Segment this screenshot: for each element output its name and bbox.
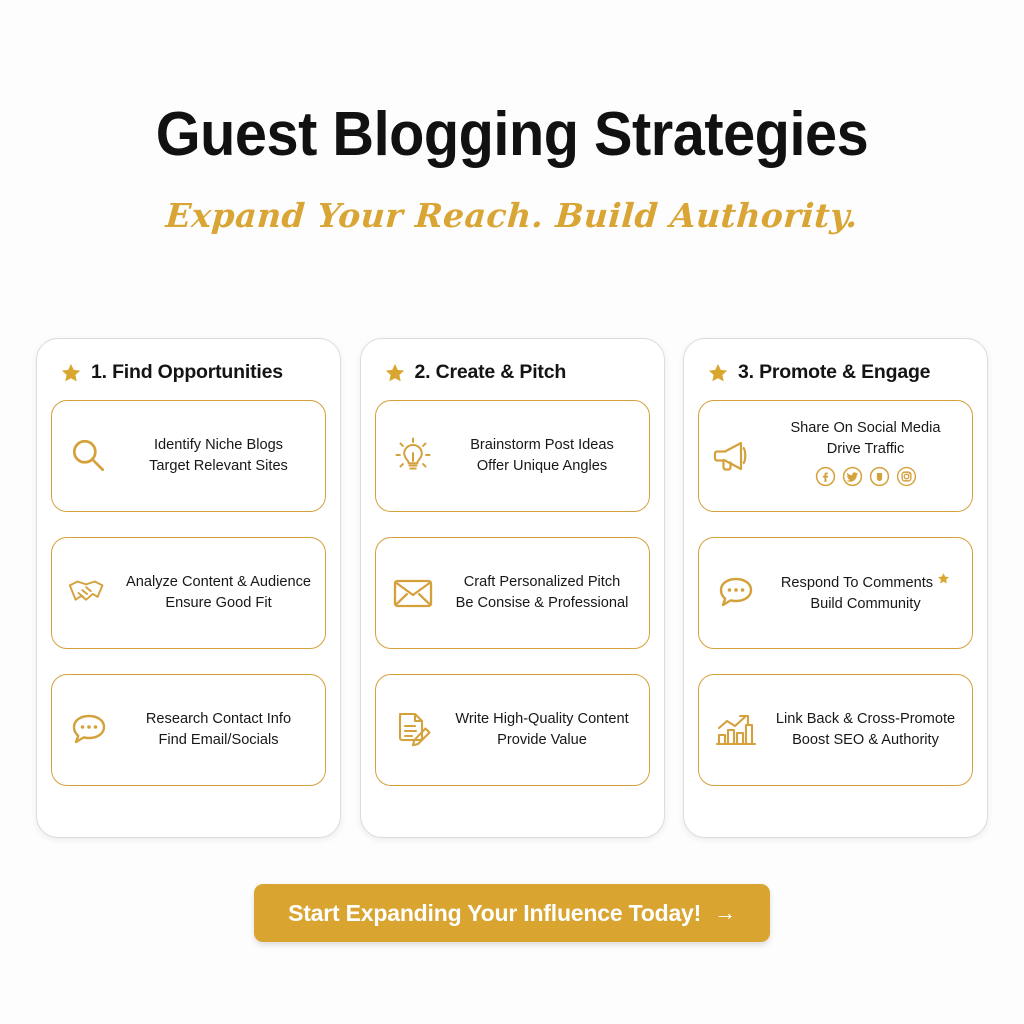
cta-label: Start Expanding Your Influence Today! (288, 900, 701, 927)
cta-section: Start Expanding Your Influence Today! → (0, 884, 1024, 942)
list-item-line2: Provide Value (446, 730, 639, 751)
start-expanding-button[interactable]: Start Expanding Your Influence Today! → (254, 884, 770, 942)
list-item-line2: Offer Unique Angles (446, 456, 639, 477)
megaphone-icon (709, 437, 763, 475)
list-item[interactable]: Write High-Quality Content Provide Value (375, 674, 650, 786)
list-item-line2: Drive Traffic (769, 439, 962, 460)
twitter-icon[interactable] (842, 466, 863, 494)
list-item-line1: Brainstorm Post Ideas (470, 437, 614, 453)
card-header-1: 1. Find Opportunities (51, 361, 326, 384)
speech-bubble-dots-icon (62, 711, 116, 749)
star-icon (384, 362, 406, 384)
list-item-text: Share On Social Media Drive Traffic (769, 418, 962, 493)
list-item-line2: Build Community (769, 594, 962, 615)
tiktok-icon[interactable] (869, 466, 890, 494)
list-item[interactable]: Identify Niche Blogs Target Relevant Sit… (51, 400, 326, 512)
speech-bubble-dots-icon (709, 574, 763, 612)
list-item-text: Link Back & Cross-Promote Boost SEO & Au… (769, 709, 962, 750)
strategy-columns: 1. Find Opportunities Identify Niche Blo… (36, 338, 988, 838)
list-item[interactable]: Link Back & Cross-Promote Boost SEO & Au… (698, 674, 973, 786)
list-item-text: Craft Personalized Pitch Be Consise & Pr… (446, 572, 639, 613)
card-title-3: 3. Promote & Engage (738, 361, 930, 384)
list-item-line2: Be Consise & Professional (446, 593, 639, 614)
lightbulb-icon (386, 434, 440, 478)
list-item-line1: Identify Niche Blogs (154, 437, 283, 453)
list-item-line2: Ensure Good Fit (122, 593, 315, 614)
infographic-page: Guest Blogging Strategies Expand Your Re… (0, 0, 1024, 1024)
document-pencil-icon (386, 708, 440, 752)
list-item[interactable]: Respond To Comments Build Community (698, 537, 973, 649)
list-item-text: Research Contact Info Find Email/Socials (122, 709, 315, 750)
handshake-icon (62, 573, 116, 613)
strategy-card-1: 1. Find Opportunities Identify Niche Blo… (36, 338, 341, 838)
instagram-icon[interactable] (896, 466, 917, 494)
list-item-line2: Find Email/Socials (122, 730, 315, 751)
social-icons-row (769, 466, 962, 494)
list-item[interactable]: Research Contact Info Find Email/Socials (51, 674, 326, 786)
strategy-card-2: 2. Create & Pitch Brainstorm Post Ideas … (360, 338, 665, 838)
strategy-card-3: 3. Promote & Engage Share On Social Medi… (683, 338, 988, 838)
envelope-icon (386, 575, 440, 611)
list-item-line1: Link Back & Cross-Promote (776, 711, 955, 727)
star-icon (707, 362, 729, 384)
card-title-2: 2. Create & Pitch (415, 361, 567, 384)
card-header-3: 3. Promote & Engage (698, 361, 973, 384)
star-icon (60, 362, 82, 384)
list-item[interactable]: Brainstorm Post Ideas Offer Unique Angle… (375, 400, 650, 512)
arrow-right-icon: → (714, 900, 736, 926)
growth-chart-icon (709, 710, 763, 750)
list-item-text: Write High-Quality Content Provide Value (446, 709, 639, 750)
list-item-line2: Target Relevant Sites (122, 456, 315, 477)
list-item-line1: Share On Social Media (790, 420, 940, 436)
star-icon (937, 573, 950, 589)
card-header-2: 2. Create & Pitch (375, 361, 650, 384)
list-item[interactable]: Analyze Content & Audience Ensure Good F… (51, 537, 326, 649)
list-item-line2: Boost SEO & Authority (769, 730, 962, 751)
list-item[interactable]: Share On Social Media Drive Traffic (698, 400, 973, 512)
list-item-text: Analyze Content & Audience Ensure Good F… (122, 572, 315, 613)
page-subtitle: Expand Your Reach. Build Authority. (0, 196, 1024, 235)
list-item-text: Brainstorm Post Ideas Offer Unique Angle… (446, 435, 639, 476)
card-title-1: 1. Find Opportunities (91, 361, 283, 384)
list-item-text: Identify Niche Blogs Target Relevant Sit… (122, 435, 315, 476)
page-title: Guest Blogging Strategies (36, 104, 988, 166)
header: Guest Blogging Strategies Expand Your Re… (0, 0, 1024, 235)
list-item-line1: Respond To Comments (781, 575, 933, 591)
list-item-line1: Write High-Quality Content (455, 711, 628, 727)
facebook-icon[interactable] (815, 466, 836, 494)
list-item[interactable]: Craft Personalized Pitch Be Consise & Pr… (375, 537, 650, 649)
magnifier-icon (62, 435, 116, 477)
list-item-text: Respond To Comments Build Community (769, 571, 962, 614)
list-item-line1: Analyze Content & Audience (126, 574, 311, 590)
list-item-line1: Craft Personalized Pitch (464, 574, 621, 590)
list-item-line1: Research Contact Info (146, 711, 291, 727)
